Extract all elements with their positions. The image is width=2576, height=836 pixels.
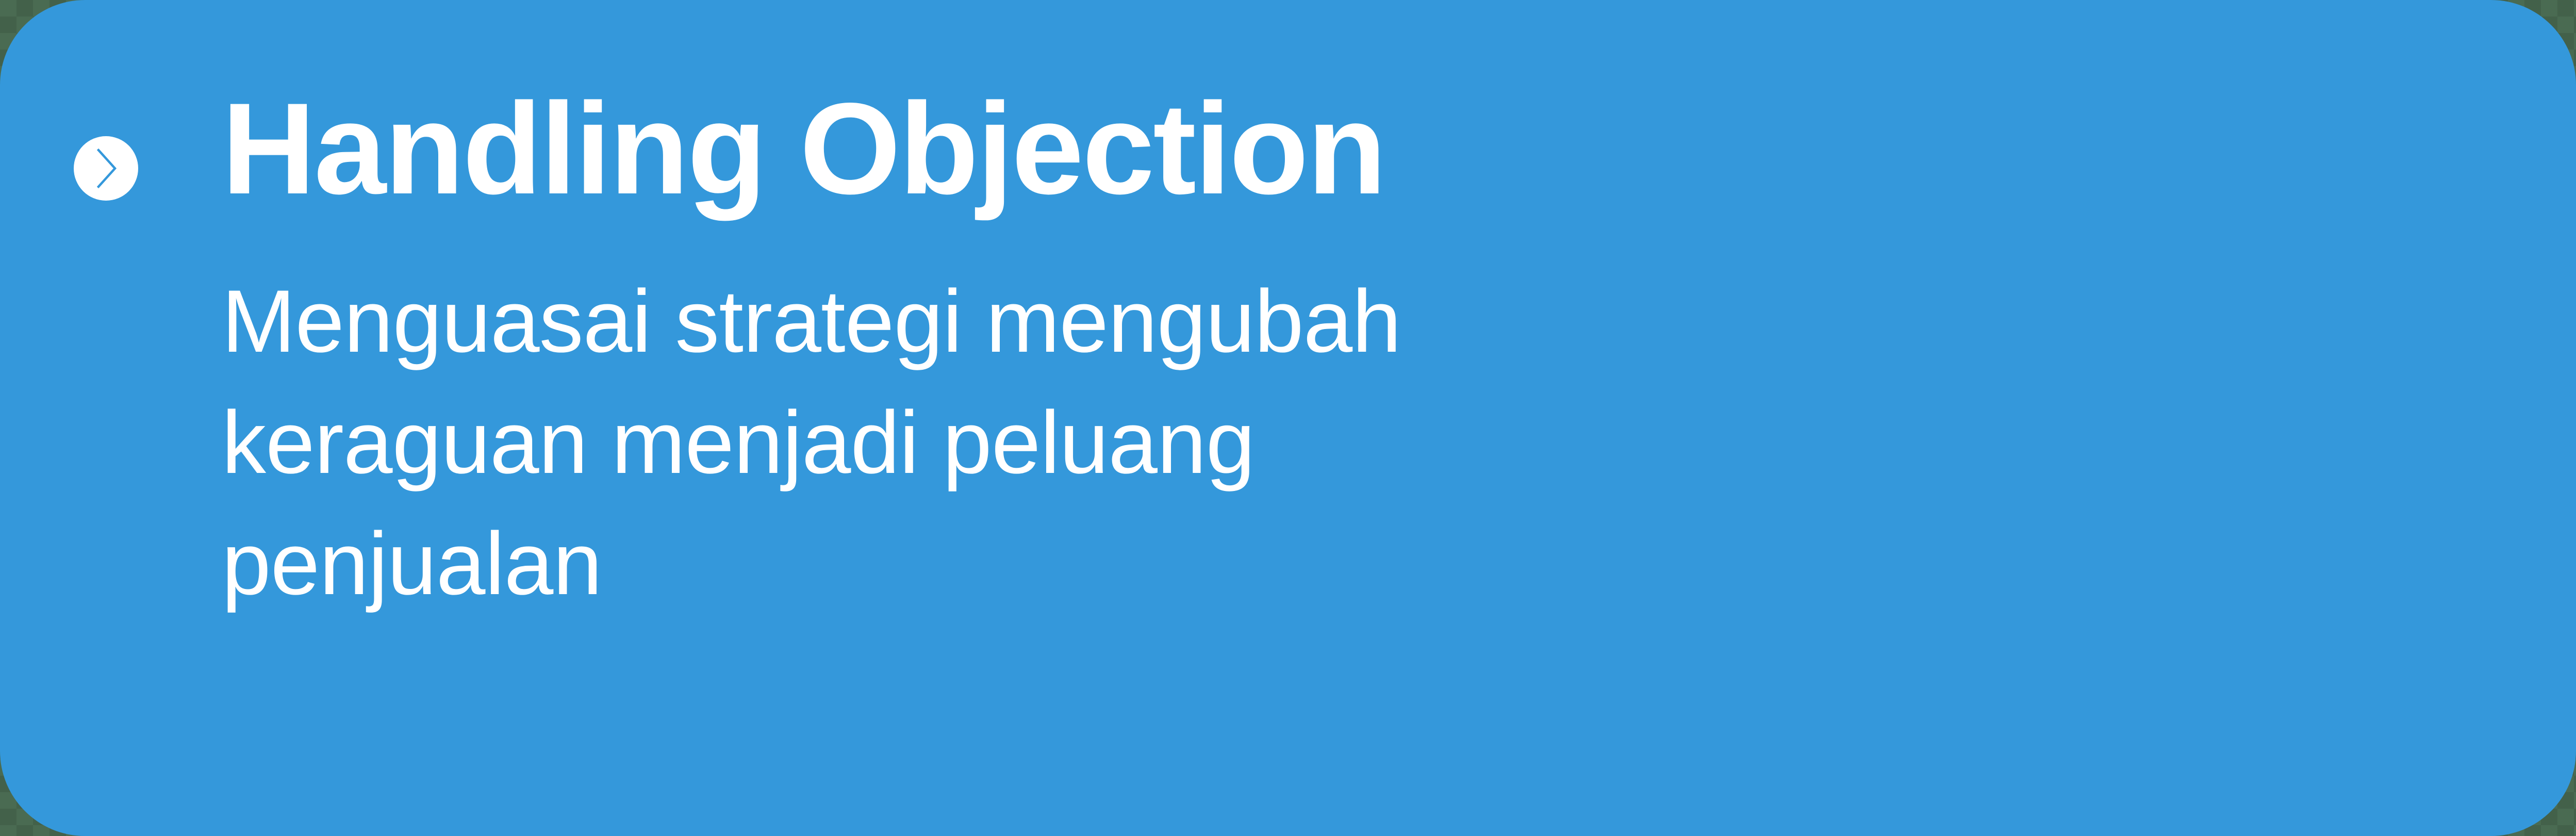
card-title: Handling Objection: [222, 84, 1385, 214]
card-description: Menguasai strategi mengubah keraguan men…: [222, 261, 2129, 625]
card-content-row: Handling Objection Menguasai strategi me…: [0, 0, 2576, 836]
chevron-right-icon[interactable]: [74, 136, 138, 201]
chevron-right-glyph: [74, 136, 138, 201]
card-description-line: Menguasai strategi mengubah: [222, 261, 2129, 382]
feature-card[interactable]: Handling Objection Menguasai strategi me…: [0, 0, 2576, 836]
card-description-line: penjualan: [222, 503, 2129, 625]
card-description-line: keraguan menjadi peluang: [222, 382, 2129, 503]
card-text-block: Handling Objection Menguasai strategi me…: [222, 0, 2336, 836]
